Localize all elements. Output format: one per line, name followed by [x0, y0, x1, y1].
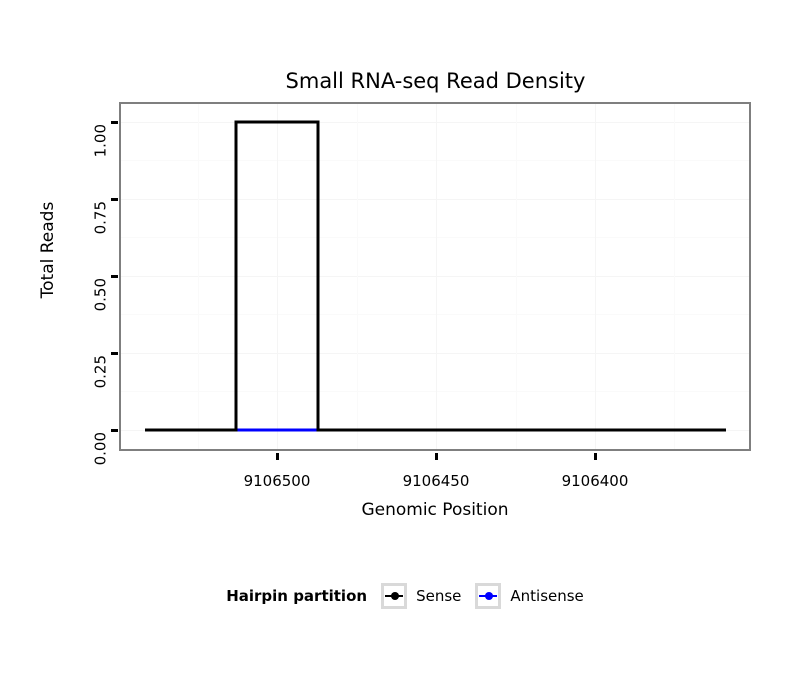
chart-title: Small RNA-seq Read Density: [119, 68, 752, 94]
legend-label-antisense: Antisense: [510, 587, 583, 605]
y-tick-group-0.00: 0.00: [40, 423, 100, 437]
x-tick-label: 9106450: [366, 472, 506, 490]
y-tick-mark: [111, 121, 118, 124]
x-tick-mark: [276, 453, 279, 460]
y-axis-title: Total Reads: [38, 190, 58, 310]
plot-panel: [119, 102, 751, 451]
legend-point-icon: [485, 592, 493, 600]
y-tick-mark: [111, 429, 118, 432]
y-tick-mark: [111, 352, 118, 355]
x-tick-mark: [435, 453, 438, 460]
plot-area: [121, 104, 749, 449]
y-tick-group-0.75: 0.75: [40, 192, 100, 206]
y-tick-label: 0.25: [91, 355, 109, 388]
legend-entry-antisense[interactable]: Antisense: [475, 583, 583, 609]
data-lines: [121, 104, 749, 449]
y-tick-label: 1.00: [91, 124, 109, 157]
y-tick-mark: [111, 275, 118, 278]
y-tick-label: 0.50: [91, 278, 109, 311]
legend-title: Hairpin partition: [226, 587, 367, 605]
y-tick-group-0.50: 0.50: [40, 269, 100, 283]
x-tick-label: 9106400: [525, 472, 665, 490]
legend-entry-sense[interactable]: Sense: [381, 583, 461, 609]
y-tick-group-1.00: 1.00: [40, 115, 100, 129]
x-axis-title: Genomic Position: [119, 500, 751, 520]
y-tick-mark: [111, 198, 118, 201]
y-tick-group-0.25: 0.25: [40, 346, 100, 360]
legend-key-sense: [381, 583, 407, 609]
y-tick-label: 0.00: [91, 432, 109, 465]
y-tick-label: 0.75: [91, 201, 109, 234]
x-tick-mark: [594, 453, 597, 460]
chart-legend: Hairpin partition Sense Antisense: [0, 583, 810, 609]
legend-key-antisense: [475, 583, 501, 609]
legend-label-sense: Sense: [416, 587, 461, 605]
legend-point-icon: [391, 592, 399, 600]
chart-figure: Small RNA-seq Read Density Total Reads 1…: [0, 0, 810, 690]
x-tick-label: 9106500: [207, 472, 347, 490]
series-line-sense: [145, 122, 726, 430]
